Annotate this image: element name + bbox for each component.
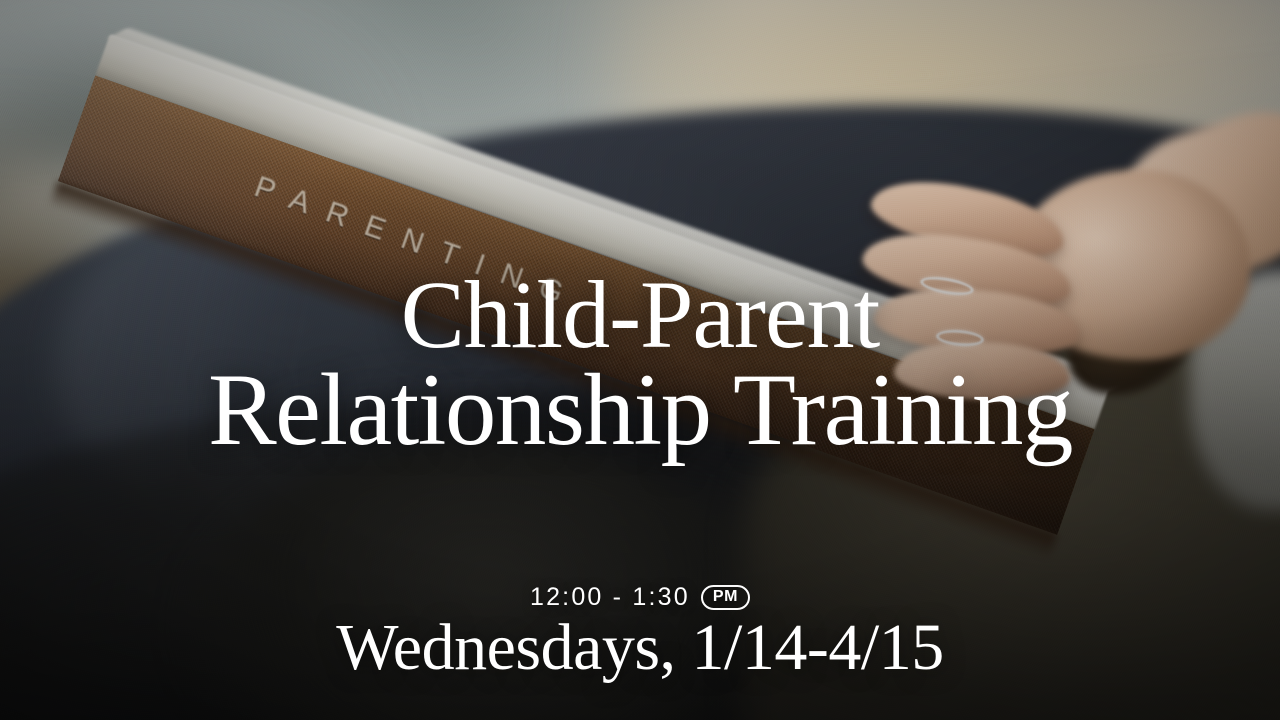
event-title-line-2: Relationship Training xyxy=(0,361,1280,461)
text-overlay: Child-Parent Relationship Training 12:00… xyxy=(0,0,1280,720)
event-title: Child-Parent Relationship Training xyxy=(0,268,1280,461)
event-title-line-1: Child-Parent xyxy=(401,261,880,368)
event-time-row: 12:00 - 1:30 PM xyxy=(0,583,1280,612)
event-time-range: 12:00 - 1:30 xyxy=(530,583,690,612)
event-date-line: Wednesdays, 1/14-4/15 xyxy=(0,613,1280,683)
event-promo-graphic: PARENTING Child-Parent Relationship Trai… xyxy=(0,0,1280,720)
meridiem-badge: PM xyxy=(701,585,750,610)
